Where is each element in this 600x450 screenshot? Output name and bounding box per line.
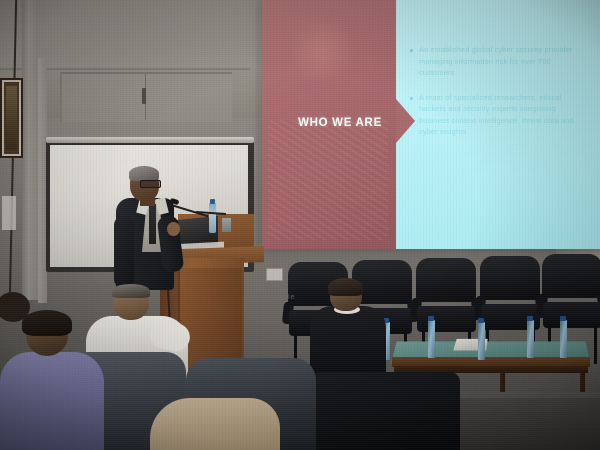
audience-person-dark-suit — [310, 306, 386, 376]
eyeglasses-icon — [140, 180, 161, 188]
wall-recess-panel — [60, 72, 232, 122]
bottle-cap — [560, 316, 566, 321]
list-item: A team of specialized researchers, ethic… — [410, 92, 586, 138]
wall-faint-text: le — [288, 294, 295, 301]
bottle-cap — [478, 318, 484, 323]
speaker-hand — [167, 222, 180, 236]
podium-water-bottle — [209, 203, 216, 233]
audience-hair — [112, 284, 150, 298]
chair-seat — [417, 306, 476, 332]
chair-back — [416, 258, 476, 302]
audience-hair — [328, 278, 363, 296]
bottle-cap — [428, 316, 434, 321]
water-bottle — [428, 320, 435, 358]
list-item: An established global cyber security pro… — [410, 44, 586, 79]
audience-person-blue-shirt — [0, 352, 104, 450]
wall-panel-latch — [142, 88, 146, 104]
wall-picture-canvas — [6, 86, 17, 150]
audience-leg — [150, 398, 280, 450]
bottle-cap — [527, 316, 533, 321]
slide-glow-motif — [286, 18, 358, 82]
chair-leg — [594, 326, 597, 364]
projection-screen: WHO WE ARE An established global cyber s… — [262, 0, 600, 249]
audience-hair — [22, 310, 72, 336]
bullet-square-icon — [410, 97, 413, 100]
water-bottle — [478, 322, 485, 360]
slide-bullet-list: An established global cyber security pro… — [410, 44, 586, 151]
slide-bullet-text: A team of specialized researchers, ethic… — [419, 92, 586, 138]
photo-scene: WHO WE ARE An established global cyber s… — [0, 0, 600, 450]
drinking-glass — [222, 218, 231, 232]
audience-chair — [310, 372, 460, 450]
chair-back — [542, 254, 600, 298]
podium-bottle-cap — [210, 199, 215, 204]
speaker-tie — [149, 204, 156, 244]
door-frame — [22, 0, 38, 300]
slide-bullet-text: An established global cyber security pro… — [419, 44, 586, 79]
speaker-arm — [114, 216, 134, 288]
wall-notice — [2, 196, 16, 230]
chair-back — [480, 256, 540, 300]
water-bottle — [560, 320, 567, 358]
chair-seat — [543, 302, 600, 328]
water-bottle — [527, 320, 534, 358]
wall-socket — [266, 268, 283, 281]
wall-picture — [0, 78, 23, 158]
whiteboard-tray — [46, 137, 254, 143]
slide-title: WHO WE ARE — [284, 117, 396, 129]
bullet-square-icon — [410, 49, 413, 52]
slide-texture-motif — [268, 120, 388, 240]
speaker-hair — [129, 166, 159, 181]
